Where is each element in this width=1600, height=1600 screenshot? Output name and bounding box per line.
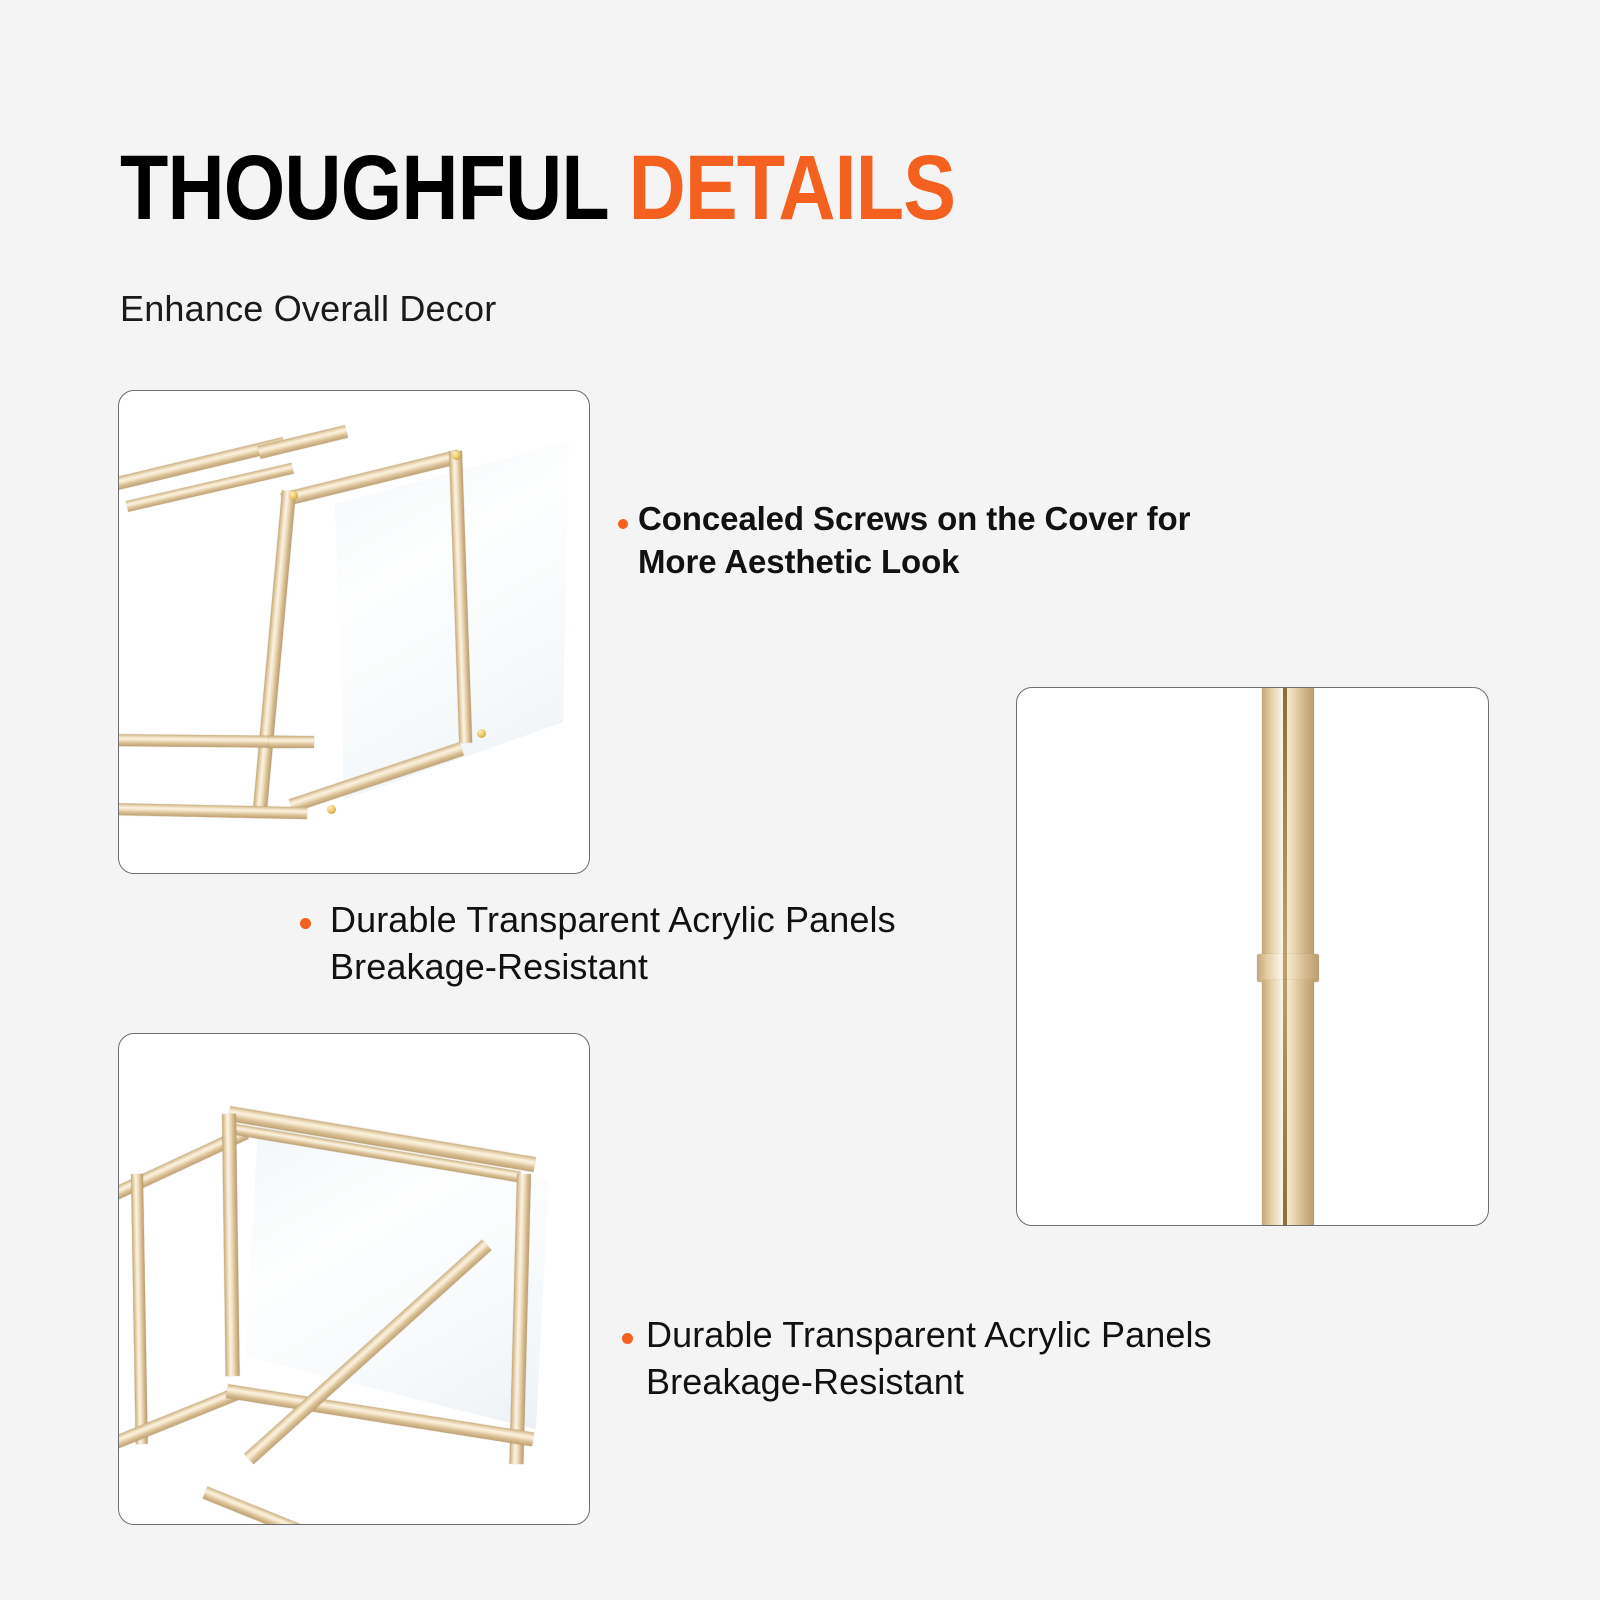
feature-bullet-1-text: Concealed Screws on the Cover for More A… <box>638 498 1298 584</box>
bullet-dot-icon <box>618 519 628 529</box>
feature-bullet-3-text: Durable Transparent Acrylic Panels Break… <box>646 1312 1346 1406</box>
gold-pole-lower <box>1262 980 1314 1225</box>
page-title-main: THOUGHFUL <box>120 137 629 239</box>
page-title: THOUGHFUL DETAILS <box>120 142 955 234</box>
page-subtitle: Enhance Overall Decor <box>120 288 496 330</box>
photo-stage <box>119 1034 589 1524</box>
bullet-dot-icon <box>300 918 311 929</box>
photo-stage <box>119 391 589 873</box>
gold-pole-upper <box>1262 688 1314 960</box>
gold-bar-rear-bottom-near <box>119 803 307 819</box>
gold-bar-front-left-post <box>222 1114 240 1376</box>
concealed-screw-icon <box>289 491 298 500</box>
page-title-accent: DETAILS <box>629 137 956 239</box>
feature-bullet-2-text: Durable Transparent Acrylic Panels Break… <box>330 897 1010 991</box>
bullet-dot-icon <box>622 1333 633 1344</box>
concealed-screw-icon <box>327 805 336 814</box>
product-photo-cube-frame <box>118 1033 590 1525</box>
gold-bar-rear-bottom-joint <box>269 736 314 748</box>
gold-bar-lower-leg <box>203 1486 421 1524</box>
gold-bar-front-left <box>253 490 296 812</box>
gold-pole-connector <box>1257 954 1319 982</box>
gold-bar-left-rear-post <box>131 1174 148 1444</box>
concealed-screw-icon <box>452 451 461 460</box>
product-photo-pole-joint <box>1016 687 1489 1226</box>
pole-specular-line <box>1283 688 1287 1225</box>
product-photo-frame-corner <box>118 390 590 874</box>
gold-bar-rear-top-seg <box>257 425 348 459</box>
photo-stage <box>1017 688 1488 1225</box>
concealed-screw-icon <box>477 729 486 738</box>
